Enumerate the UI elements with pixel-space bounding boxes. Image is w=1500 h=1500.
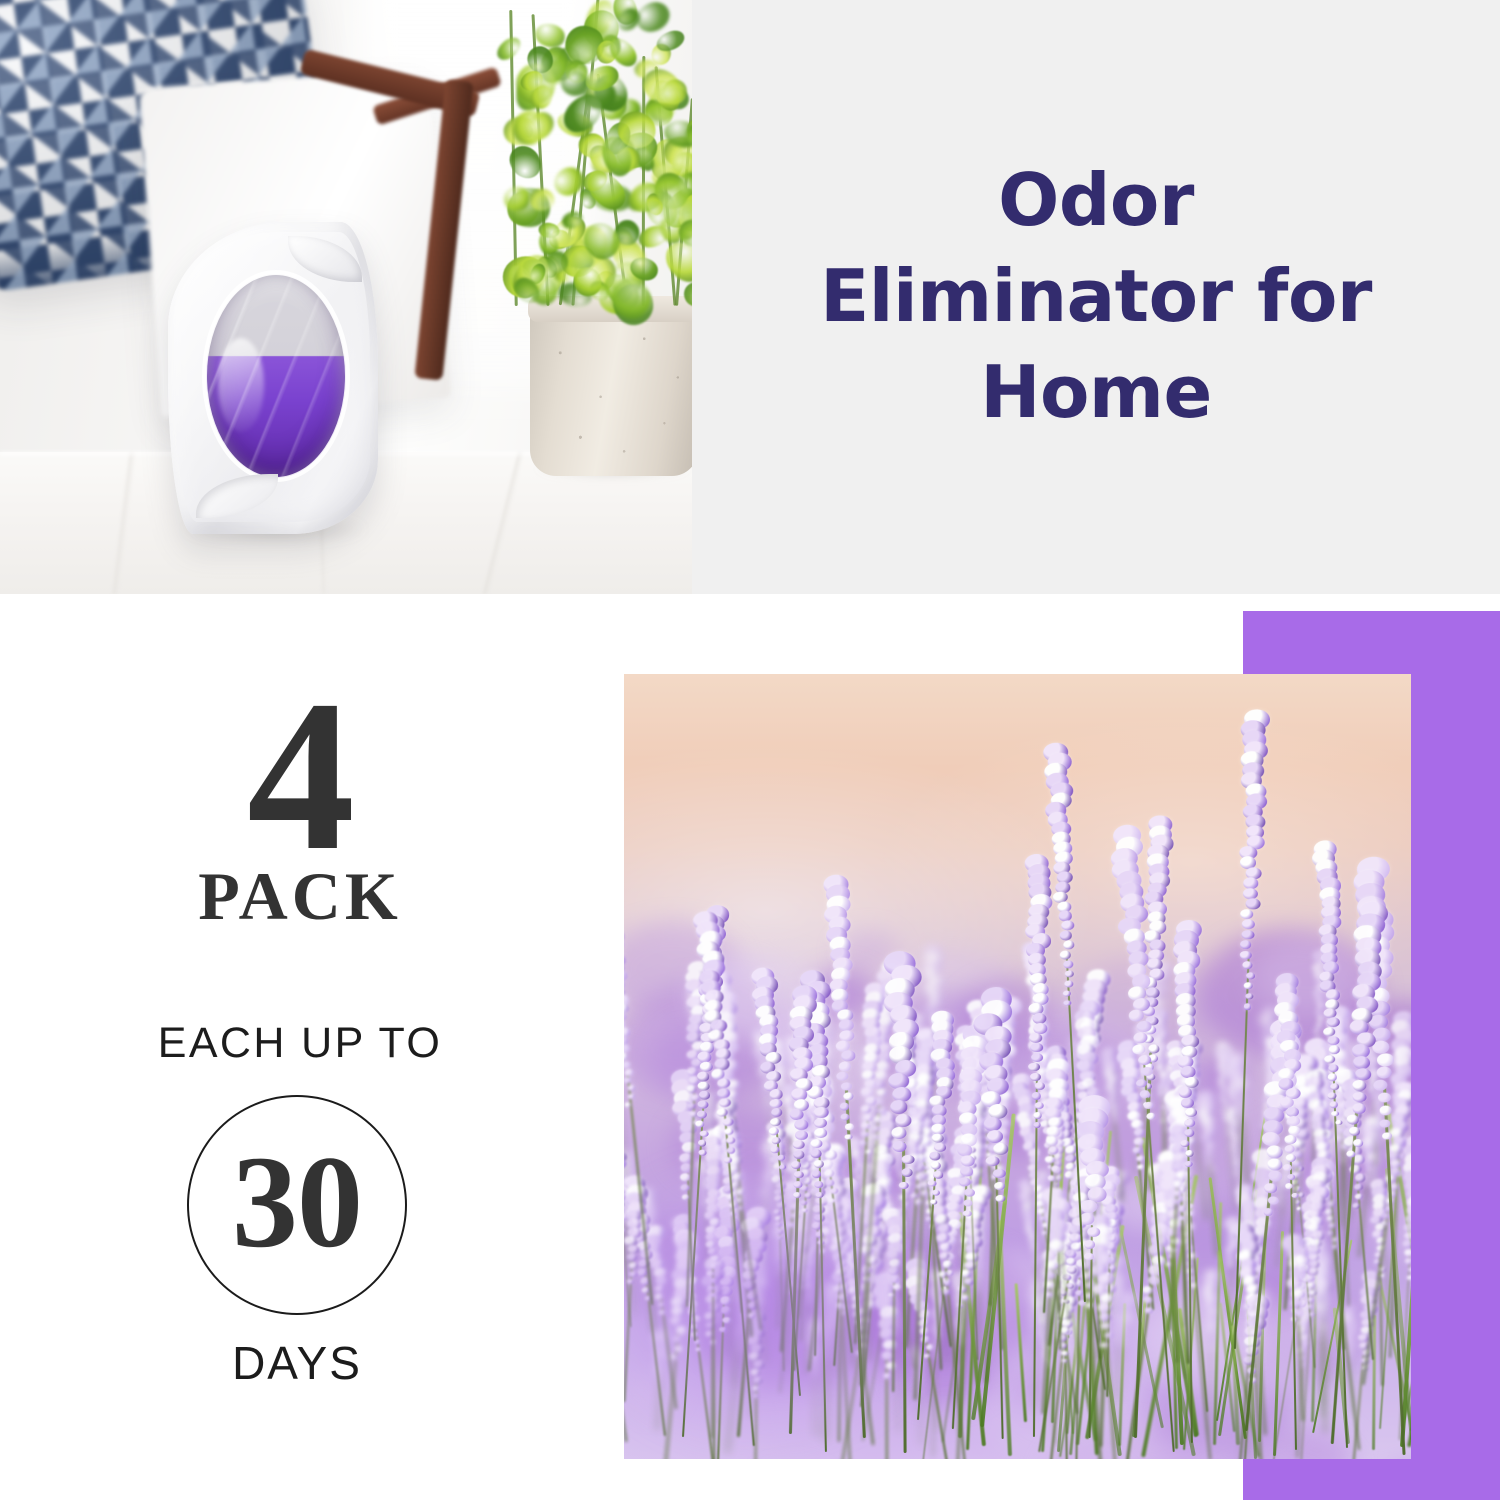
lavender-stem bbox=[1383, 1084, 1406, 1455]
plant-leaf bbox=[493, 33, 525, 64]
lavender-floret bbox=[1064, 980, 1073, 987]
lavender-floret bbox=[1184, 1129, 1194, 1137]
lavender-floret bbox=[624, 1069, 633, 1077]
lavender-floret bbox=[1328, 1092, 1337, 1099]
lavender-floret bbox=[1185, 1108, 1197, 1117]
lavender-floret bbox=[1352, 1103, 1366, 1114]
lavender-floret bbox=[1133, 1032, 1148, 1044]
lavender-floret bbox=[1141, 1066, 1153, 1076]
pack-label: PACK bbox=[140, 862, 460, 930]
lavender-floret bbox=[1185, 1150, 1194, 1157]
lavender-floret bbox=[838, 1061, 851, 1071]
lavender-floret bbox=[1382, 1132, 1392, 1140]
headline-panel: Odor Eliminator for Home bbox=[692, 0, 1500, 594]
lavender-floret bbox=[1030, 1073, 1041, 1081]
lavender-floret bbox=[628, 1094, 635, 1100]
lavender-floret bbox=[1059, 930, 1072, 940]
duration-badge: 30 bbox=[187, 1095, 407, 1315]
potted-green-plant bbox=[452, 0, 692, 326]
lavender-floret bbox=[1185, 1160, 1193, 1166]
lavender-floret bbox=[624, 969, 628, 984]
lavender-floret bbox=[717, 1088, 730, 1099]
lavender-floret bbox=[1242, 919, 1255, 930]
lavender-floret bbox=[1139, 1089, 1150, 1098]
lavender-floret bbox=[837, 1071, 849, 1081]
page-title: Odor Eliminator for Home bbox=[766, 153, 1426, 440]
lavender-floret bbox=[1242, 930, 1255, 940]
lavender-foreground-mist bbox=[624, 1106, 1037, 1459]
lavender-floret bbox=[1351, 1079, 1367, 1092]
duration-value: 30 bbox=[232, 1136, 362, 1268]
lavender-floret bbox=[1063, 940, 1075, 950]
lavender-floret bbox=[1380, 1106, 1392, 1116]
air-freshener-product bbox=[168, 222, 378, 534]
lavender-floret bbox=[1178, 1087, 1191, 1097]
lavender-floret bbox=[1329, 1045, 1341, 1054]
lavender-floret bbox=[1240, 951, 1251, 960]
lavender-floret bbox=[624, 1077, 631, 1084]
lavender-floret bbox=[1240, 940, 1252, 950]
lavender-floret bbox=[1291, 1192, 1298, 1198]
lavender-floret bbox=[1285, 1145, 1296, 1153]
lavender-floret bbox=[1328, 1036, 1340, 1046]
lavender-stem bbox=[1066, 955, 1086, 1302]
lavender-floret bbox=[1244, 1004, 1252, 1010]
lavender-floret bbox=[1309, 1312, 1315, 1317]
lavender-floret bbox=[1030, 1043, 1042, 1053]
lavender-floret bbox=[1136, 1020, 1152, 1033]
lavender-floret bbox=[1060, 950, 1071, 959]
lavender-floret bbox=[1328, 1064, 1339, 1072]
lavender-floret bbox=[1345, 1151, 1354, 1159]
lavender-floret bbox=[1379, 1119, 1390, 1128]
lavender-floret bbox=[1184, 1118, 1195, 1127]
lavender-floret bbox=[1064, 970, 1074, 978]
duration-prefix-label: EACH UP TO bbox=[110, 1022, 490, 1065]
lavender-floret bbox=[1346, 1115, 1359, 1125]
pack-count: 4 bbox=[205, 668, 395, 884]
top-band: Odor Eliminator for Home bbox=[0, 0, 1500, 594]
lavender-floret bbox=[1352, 1091, 1367, 1103]
lavender-floret bbox=[1028, 1033, 1041, 1043]
lavender-floret bbox=[841, 1082, 853, 1091]
lavender-floret bbox=[1180, 1139, 1189, 1146]
lavender-floret bbox=[1138, 1055, 1151, 1066]
lavender-floret bbox=[1287, 1173, 1296, 1180]
lavender-floret bbox=[1328, 1073, 1338, 1081]
lavender-floret bbox=[1240, 909, 1254, 920]
lavender-field-photo bbox=[624, 674, 1411, 1459]
plant-leaf bbox=[529, 188, 555, 210]
lavender-floret bbox=[1063, 960, 1074, 968]
lavender-floret bbox=[1378, 1093, 1392, 1104]
lavender-floret bbox=[1031, 1053, 1043, 1062]
lavender-floret bbox=[1308, 1267, 1318, 1275]
lavender-floret bbox=[1348, 1127, 1360, 1136]
product-marketing-graphic: Odor Eliminator for Home 4 PACK EACH UP … bbox=[0, 0, 1500, 1500]
lavender-floret bbox=[1264, 1183, 1277, 1194]
lavender-floret bbox=[1144, 1101, 1154, 1109]
lavender-floret bbox=[1062, 990, 1071, 997]
lavender-floret bbox=[1133, 997, 1151, 1011]
lavender-floret bbox=[1028, 1063, 1039, 1072]
lavender-floret bbox=[842, 1050, 856, 1061]
lavender-floret bbox=[1327, 1017, 1340, 1028]
lavender-floret bbox=[1243, 961, 1254, 969]
lavender-floret bbox=[1244, 983, 1253, 990]
lavender-floret bbox=[1035, 1083, 1045, 1091]
product-oval-ring bbox=[202, 270, 350, 482]
lavender-floret bbox=[1287, 1116, 1300, 1126]
lavender-floret bbox=[1132, 1043, 1146, 1054]
lavender-floret bbox=[1288, 1125, 1300, 1135]
lavender-floret bbox=[1147, 1112, 1156, 1119]
lavender-floret bbox=[624, 1061, 631, 1069]
lavender-floret bbox=[1325, 1055, 1336, 1064]
lavender-floret bbox=[1061, 920, 1074, 931]
plant-leaf bbox=[680, 279, 692, 311]
concrete-texture bbox=[530, 300, 692, 476]
lavender-floret bbox=[1285, 1135, 1296, 1144]
lavender-floret bbox=[1286, 1154, 1296, 1162]
lavender-stem bbox=[1234, 953, 1250, 1350]
lavender-floret bbox=[1031, 1093, 1040, 1100]
room-scene-photo bbox=[0, 0, 692, 594]
lavender-floret bbox=[1263, 1208, 1273, 1216]
lavender-floret bbox=[1181, 1097, 1194, 1107]
duration-unit-label: DAYS bbox=[157, 1340, 437, 1386]
lavender-floret bbox=[624, 1053, 628, 1062]
lavender-floret bbox=[624, 928, 625, 946]
lavender-floret bbox=[1330, 1083, 1339, 1090]
lavender-floret bbox=[1205, 1151, 1214, 1158]
lavender-floret bbox=[1353, 1139, 1364, 1147]
lavender-floret bbox=[1180, 1066, 1195, 1078]
lavender-floret bbox=[844, 1092, 855, 1101]
lavender-floret bbox=[1206, 1159, 1213, 1165]
lavender-floret bbox=[1308, 1290, 1316, 1296]
lavender-stem bbox=[1290, 1154, 1297, 1450]
lavender-stem bbox=[1331, 1108, 1358, 1444]
lavender-floret bbox=[1184, 1076, 1198, 1087]
lavender-floret bbox=[1206, 1142, 1216, 1150]
